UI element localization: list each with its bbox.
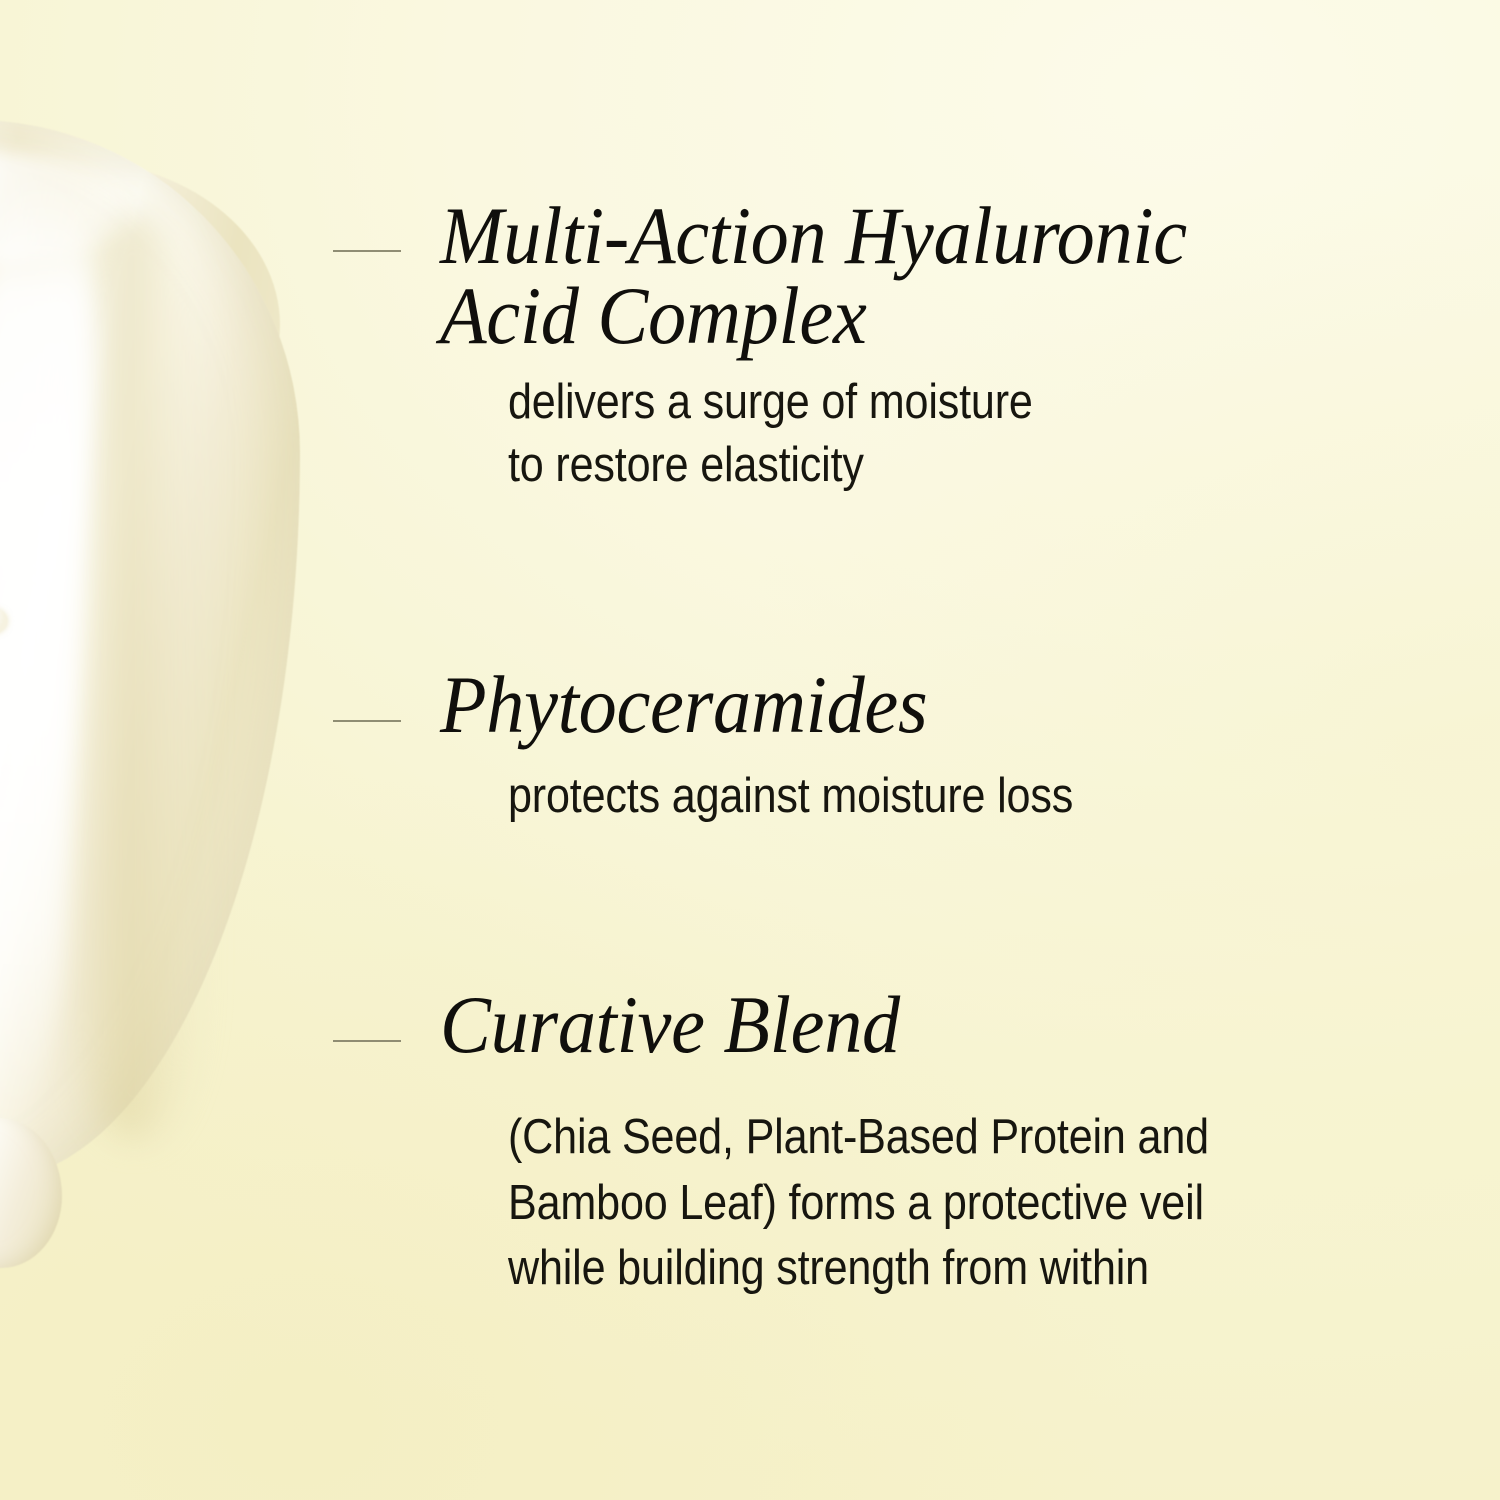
feature-subtext: (Chia Seed, Plant-Based Protein and Bamb…	[508, 1105, 1322, 1300]
feature-text-block: Curative Blend (Chia Seed, Plant-Based P…	[440, 985, 1433, 1301]
feature-text-block: Phytoceramides protects against moisture…	[440, 665, 1433, 829]
bullet-dash-icon	[333, 250, 401, 252]
feature-headline: Multi-Action Hyaluronic Acid Complex	[440, 196, 1363, 357]
feature-item-phytoceramides: Phytoceramides protects against moisture…	[333, 665, 1433, 829]
bullet-dash-icon	[333, 720, 401, 722]
feature-headline: Phytoceramides	[440, 665, 1363, 745]
feature-headline: Curative Blend	[440, 985, 1363, 1065]
cream-serum-swatch	[0, 120, 300, 1180]
bullet-dash-icon	[333, 1040, 401, 1042]
product-feature-panel: Multi-Action Hyaluronic Acid Complex del…	[0, 0, 1500, 1500]
feature-text-block: Multi-Action Hyaluronic Acid Complex del…	[440, 196, 1433, 498]
feature-subtext: protects against moisture loss	[508, 765, 1322, 829]
feature-subtext: delivers a surge of moisture to restore …	[508, 371, 1322, 498]
feature-list: Multi-Action Hyaluronic Acid Complex del…	[333, 0, 1500, 1500]
feature-item-curative-blend: Curative Blend (Chia Seed, Plant-Based P…	[333, 985, 1433, 1301]
feature-item-hyaluronic: Multi-Action Hyaluronic Acid Complex del…	[333, 196, 1433, 498]
